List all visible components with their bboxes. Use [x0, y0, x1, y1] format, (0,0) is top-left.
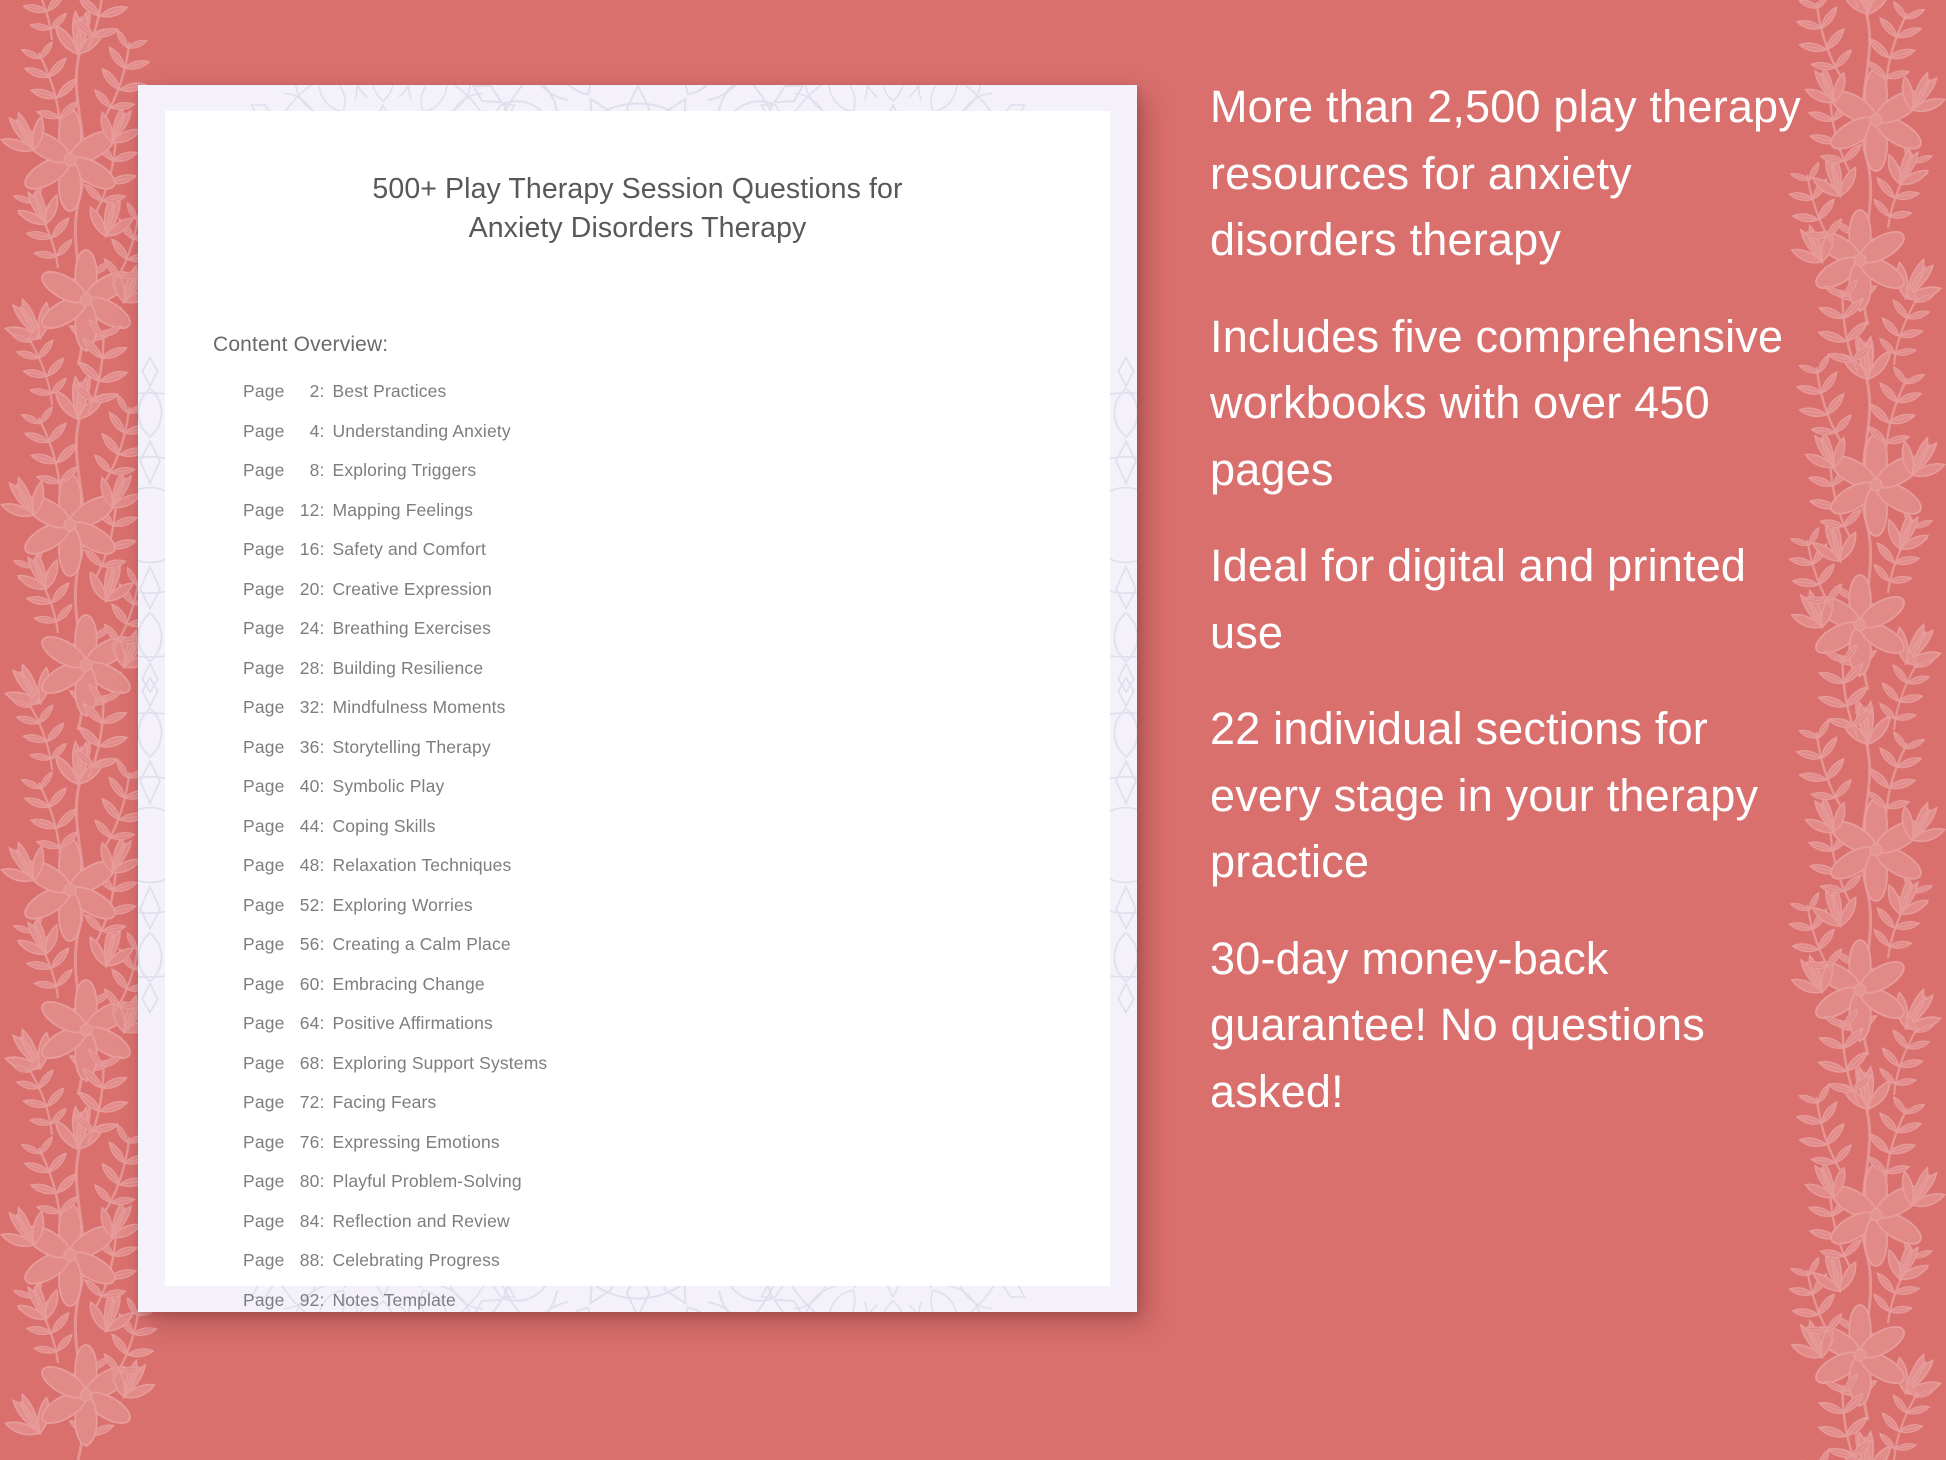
toc-page-word: Page — [243, 934, 289, 955]
toc-page-word: Page — [243, 1013, 289, 1034]
toc-page-word: Page — [243, 855, 289, 876]
table-of-contents-list: Page 2:Best PracticesPage 4:Understandin… — [243, 381, 1063, 1329]
toc-page-word: Page — [243, 697, 289, 718]
toc-entry-title: Playful Problem-Solving — [325, 1171, 522, 1192]
marketing-copy-column: More than 2,500 play therapy resources f… — [1210, 74, 1830, 1125]
toc-row: Page 16:Safety and Comfort — [243, 539, 1063, 579]
toc-page-number: 40 — [289, 776, 319, 797]
marketing-block: Ideal for digital and printed use — [1210, 533, 1830, 666]
marketing-block: Includes five comprehensive workbooks wi… — [1210, 304, 1830, 504]
toc-page-word: Page — [243, 421, 289, 442]
toc-row: Page 88:Celebrating Progress — [243, 1250, 1063, 1290]
toc-entry-title: Reflection and Review — [325, 1211, 510, 1232]
toc-page-number: 32 — [289, 697, 319, 718]
toc-entry-title: Creative Expression — [325, 579, 492, 600]
document-title-line-1: 500+ Play Therapy Session Questions for — [165, 170, 1110, 209]
toc-row: Page 64:Positive Affirmations — [243, 1013, 1063, 1053]
toc-page-number: 4 — [289, 421, 319, 442]
toc-page-word: Page — [243, 895, 289, 916]
toc-row: Page 84:Reflection and Review — [243, 1211, 1063, 1251]
toc-row: Page 92:Notes Template — [243, 1290, 1063, 1330]
left-floral-border — [0, 0, 160, 1460]
toc-page-number: 12 — [289, 500, 319, 521]
toc-page-word: Page — [243, 539, 289, 560]
toc-page-number: 24 — [289, 618, 319, 639]
toc-page-number: 60 — [289, 974, 319, 995]
toc-page-word: Page — [243, 381, 289, 402]
toc-entry-title: Exploring Support Systems — [325, 1053, 548, 1074]
toc-entry-title: Expressing Emotions — [325, 1132, 500, 1153]
toc-entry-title: Facing Fears — [325, 1092, 437, 1113]
toc-row: Page 80:Playful Problem-Solving — [243, 1171, 1063, 1211]
toc-page-word: Page — [243, 776, 289, 797]
toc-page-word: Page — [243, 460, 289, 481]
toc-row: Page 56:Creating a Calm Place — [243, 934, 1063, 974]
toc-entry-title: Mapping Feelings — [325, 500, 474, 521]
toc-entry-title: Storytelling Therapy — [325, 737, 491, 758]
toc-page-word: Page — [243, 1171, 289, 1192]
toc-page-number: 76 — [289, 1132, 319, 1153]
toc-page-word: Page — [243, 658, 289, 679]
toc-entry-title: Relaxation Techniques — [325, 855, 512, 876]
toc-page-number: 56 — [289, 934, 319, 955]
document-title-line-2: Anxiety Disorders Therapy — [165, 209, 1110, 248]
toc-page-number: 52 — [289, 895, 319, 916]
toc-row: Page 28:Building Resilience — [243, 658, 1063, 698]
toc-row: Page 20:Creative Expression — [243, 579, 1063, 619]
toc-page-number: 92 — [289, 1290, 319, 1311]
toc-row: Page 24:Breathing Exercises — [243, 618, 1063, 658]
document-preview-card[interactable]: 500+ Play Therapy Session Questions for … — [138, 85, 1137, 1312]
toc-page-word: Page — [243, 1250, 289, 1271]
toc-page-number: 48 — [289, 855, 319, 876]
document-page-sheet: 500+ Play Therapy Session Questions for … — [165, 111, 1110, 1286]
toc-row: Page 52:Exploring Worries — [243, 895, 1063, 935]
toc-row: Page 76:Expressing Emotions — [243, 1132, 1063, 1172]
toc-page-word: Page — [243, 1053, 289, 1074]
toc-entry-title: Notes Template — [325, 1290, 456, 1311]
toc-page-number: 68 — [289, 1053, 319, 1074]
toc-row: Page 12:Mapping Feelings — [243, 500, 1063, 540]
toc-page-word: Page — [243, 1290, 289, 1311]
toc-row: Page 36:Storytelling Therapy — [243, 737, 1063, 777]
toc-page-number: 20 — [289, 579, 319, 600]
toc-entry-title: Creating a Calm Place — [325, 934, 511, 955]
toc-entry-title: Building Resilience — [325, 658, 484, 679]
toc-row: Page 44:Coping Skills — [243, 816, 1063, 856]
toc-page-number: 36 — [289, 737, 319, 758]
toc-row: Page 2:Best Practices — [243, 381, 1063, 421]
toc-page-word: Page — [243, 579, 289, 600]
toc-entry-title: Coping Skills — [325, 816, 436, 837]
toc-page-number: 80 — [289, 1171, 319, 1192]
toc-page-word: Page — [243, 816, 289, 837]
toc-row: Page 48:Relaxation Techniques — [243, 855, 1063, 895]
toc-entry-title: Best Practices — [325, 381, 447, 402]
toc-page-number: 8 — [289, 460, 319, 481]
toc-page-number: 16 — [289, 539, 319, 560]
toc-entry-title: Symbolic Play — [325, 776, 445, 797]
marketing-block: 22 individual sections for every stage i… — [1210, 696, 1830, 896]
toc-page-number: 2 — [289, 381, 319, 402]
toc-page-number: 44 — [289, 816, 319, 837]
toc-row: Page 32:Mindfulness Moments — [243, 697, 1063, 737]
toc-entry-title: Safety and Comfort — [325, 539, 486, 560]
toc-page-word: Page — [243, 974, 289, 995]
toc-entry-title: Understanding Anxiety — [325, 421, 511, 442]
toc-page-number: 72 — [289, 1092, 319, 1113]
toc-row: Page 72:Facing Fears — [243, 1092, 1063, 1132]
toc-entry-title: Mindfulness Moments — [325, 697, 506, 718]
toc-entry-title: Breathing Exercises — [325, 618, 491, 639]
toc-row: Page 8:Exploring Triggers — [243, 460, 1063, 500]
toc-page-word: Page — [243, 1132, 289, 1153]
product-listing-image: 500+ Play Therapy Session Questions for … — [0, 0, 1946, 1460]
document-title: 500+ Play Therapy Session Questions for … — [165, 170, 1110, 248]
toc-entry-title: Exploring Worries — [325, 895, 473, 916]
toc-page-number: 64 — [289, 1013, 319, 1034]
toc-page-word: Page — [243, 618, 289, 639]
toc-row: Page 4:Understanding Anxiety — [243, 421, 1063, 461]
toc-entry-title: Embracing Change — [325, 974, 485, 995]
toc-page-word: Page — [243, 1092, 289, 1113]
toc-entry-title: Celebrating Progress — [325, 1250, 500, 1271]
floral-vine-icon — [0, 0, 160, 1460]
content-overview-label: Content Overview: — [213, 333, 388, 357]
toc-entry-title: Exploring Triggers — [325, 460, 477, 481]
toc-row: Page 68:Exploring Support Systems — [243, 1053, 1063, 1093]
toc-page-number: 28 — [289, 658, 319, 679]
toc-row: Page 60:Embracing Change — [243, 974, 1063, 1014]
marketing-block: More than 2,500 play therapy resources f… — [1210, 74, 1830, 274]
marketing-block: 30-day money-back guarantee! No question… — [1210, 926, 1830, 1126]
toc-page-number: 84 — [289, 1211, 319, 1232]
toc-page-word: Page — [243, 737, 289, 758]
toc-row: Page 40:Symbolic Play — [243, 776, 1063, 816]
toc-page-word: Page — [243, 1211, 289, 1232]
toc-page-word: Page — [243, 500, 289, 521]
toc-entry-title: Positive Affirmations — [325, 1013, 493, 1034]
toc-page-number: 88 — [289, 1250, 319, 1271]
